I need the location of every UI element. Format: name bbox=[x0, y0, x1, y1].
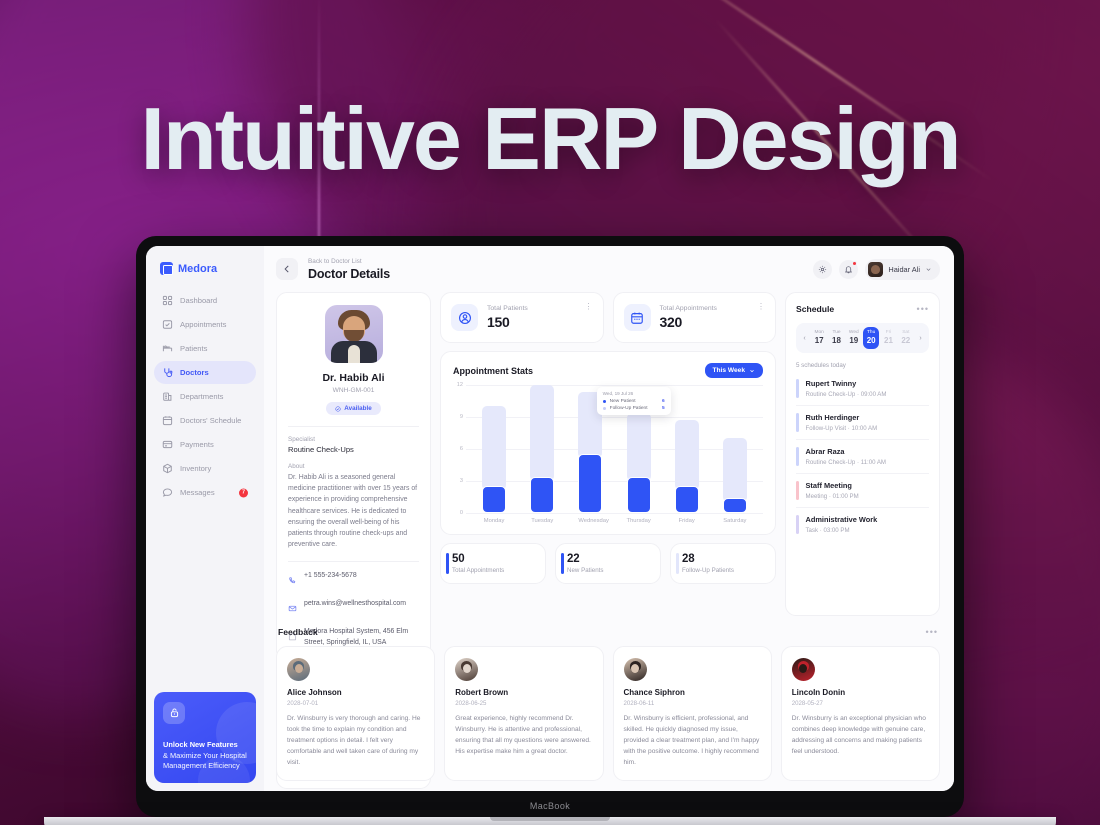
feedback-name: Alice Johnson bbox=[287, 688, 424, 697]
sidebar-item-dashboard[interactable]: Dashboard bbox=[154, 289, 256, 312]
bar-new-patient bbox=[627, 477, 651, 513]
main-area: Back to Doctor List Doctor Details bbox=[264, 246, 954, 791]
sidebar-item-label: Messages bbox=[180, 488, 215, 497]
chart-x-tick: Saturday bbox=[723, 518, 747, 524]
stat-card-total-patients: Total Patients 150 ⋮ bbox=[440, 292, 604, 343]
about-text: Dr. Habib Ali is a seasoned general medi… bbox=[288, 472, 419, 550]
feedback-text: Dr. Winsburry is very thorough and carin… bbox=[287, 713, 424, 768]
stat-value: 320 bbox=[660, 314, 717, 330]
event-meta: Routine Check-Up · 09:00 AM bbox=[806, 391, 887, 398]
event-color-bar bbox=[796, 413, 799, 432]
sidebar-item-payments[interactable]: Payments bbox=[154, 433, 256, 456]
tooltip-label: Follow-Up Patient bbox=[610, 406, 648, 411]
feedback-text: Great experience, highly recommend Dr. W… bbox=[455, 713, 592, 757]
bar-followup bbox=[530, 385, 554, 481]
chart-y-tick: 3 bbox=[460, 478, 463, 484]
chart-y-tick: 9 bbox=[460, 414, 463, 420]
chevron-left-icon[interactable]: ‹ bbox=[799, 335, 810, 342]
sidebar-item-patients[interactable]: Patients bbox=[154, 337, 256, 360]
back-button[interactable] bbox=[276, 258, 298, 280]
chart-x-tick: Friday bbox=[675, 518, 699, 524]
day-number: 21 bbox=[880, 336, 896, 345]
feedback-cards: Alice Johnson2028-07-01Dr. Winsburry is … bbox=[276, 646, 940, 781]
day-name: Tue bbox=[828, 330, 844, 335]
grid-icon bbox=[162, 295, 173, 306]
stat-card-total-appointments: Total Appointments 320 ⋮ bbox=[613, 292, 777, 343]
event-color-bar bbox=[796, 515, 799, 534]
schedule-day-cell[interactable]: Fri21 bbox=[880, 327, 896, 349]
sidebar-item-departments[interactable]: Departments bbox=[154, 385, 256, 408]
app-screen: Medora Dashboard Appointments Patients bbox=[146, 246, 954, 791]
chart-y-tick: 0 bbox=[460, 510, 463, 516]
hero-headline: Intuitive ERP Design bbox=[0, 95, 1100, 183]
chart-bar-group[interactable] bbox=[723, 385, 747, 513]
event-meta: Follow-Up Visit · 10:00 AM bbox=[806, 425, 878, 432]
sidebar-item-inventory[interactable]: Inventory bbox=[154, 457, 256, 480]
day-number: 17 bbox=[811, 336, 827, 345]
chart-header: Appointment Stats This Week bbox=[453, 363, 763, 378]
chart-plot: 036912 Wed, 19 Jul 26 New Patient 6 bbox=[453, 385, 763, 513]
doctor-profile-card: Dr. Habib Ali WNH-GM-001 Available Speci… bbox=[276, 292, 431, 661]
sidebar-item-doctors-schedule[interactable]: Doctors' Schedule bbox=[154, 409, 256, 432]
feedback-card: Chance Siphron2028-06-11Dr. Winsburry is… bbox=[613, 646, 772, 781]
user-circle-icon bbox=[451, 304, 478, 331]
laptop-mockup: MacBook Medora Dashboard Appointments bbox=[136, 236, 964, 825]
schedule-event[interactable]: Administrative WorkTask · 03:00 PM bbox=[796, 508, 929, 541]
schedule-event[interactable]: Rupert TwinnyRoutine Check-Up · 09:00 AM bbox=[796, 372, 929, 406]
stat-label: Total Appointments bbox=[660, 305, 717, 312]
chart-bar-group[interactable] bbox=[675, 385, 699, 513]
tooltip-value: 6 bbox=[662, 399, 665, 404]
notifications-button[interactable] bbox=[839, 260, 858, 279]
building-icon bbox=[162, 391, 173, 402]
mini-stat-new-patients: 22 New Patients bbox=[555, 543, 661, 584]
promo-line-3: Management Efficiency bbox=[163, 761, 247, 772]
sidebar-item-label: Doctors bbox=[180, 368, 209, 377]
avatar bbox=[792, 658, 815, 681]
chart-x-axis: MondayTuesdayWednesdayThursdayFridaySatu… bbox=[453, 513, 763, 524]
doctor-id: WNH-GM-001 bbox=[288, 387, 419, 394]
legend-swatch-new bbox=[603, 400, 606, 403]
tooltip-value: 5 bbox=[662, 406, 665, 411]
ellipsis-icon[interactable]: ••• bbox=[926, 627, 938, 637]
schedule-event[interactable]: Staff MeetingMeeting · 01:00 PM bbox=[796, 474, 929, 508]
day-name: Sat bbox=[898, 330, 914, 335]
avatar bbox=[624, 658, 647, 681]
event-title: Abrar Raza bbox=[806, 447, 887, 456]
promo-line-1: Unlock New Features bbox=[163, 740, 247, 751]
schedule-day-cell[interactable]: Tue18 bbox=[828, 327, 844, 349]
day-number: 20 bbox=[863, 336, 879, 345]
chevron-down-icon bbox=[749, 368, 755, 374]
schedule-event[interactable]: Ruth HerdingerFollow-Up Visit · 10:00 AM bbox=[796, 406, 929, 440]
schedule-day-cell[interactable]: Sat22 bbox=[898, 327, 914, 349]
bar-new-patient bbox=[530, 477, 554, 513]
feedback-card: Lincoln Donin2028-05-27Dr. Winsburry is … bbox=[781, 646, 940, 781]
week-selector: ‹ Mon17Tue18Wed19Thu20Fri21Sat22 › bbox=[796, 323, 929, 353]
mini-stat-total-appointments: 50 Total Appointments bbox=[440, 543, 546, 584]
tooltip-date: Wed, 19 Jul 26 bbox=[603, 391, 665, 396]
day-name: Fri bbox=[880, 330, 896, 335]
device-label: MacBook bbox=[136, 801, 964, 811]
chart-x-tick: Thursday bbox=[627, 518, 651, 524]
chart-grid: Wed, 19 Jul 26 New Patient 6 bbox=[466, 385, 763, 513]
user-name: Haidar Ali bbox=[888, 265, 920, 274]
medora-logo-icon bbox=[160, 262, 173, 275]
avatar bbox=[868, 262, 883, 277]
mini-label: Follow-Up Patients bbox=[682, 567, 765, 574]
event-color-bar bbox=[796, 481, 799, 500]
feedback-date: 2028-07-01 bbox=[287, 700, 424, 707]
schedule-day-cell[interactable]: Wed19 bbox=[846, 327, 862, 349]
sidebar-item-label: Inventory bbox=[180, 464, 211, 473]
event-meta: Meeting · 01:00 PM bbox=[806, 493, 859, 500]
feedback-text: Dr. Winsburry is efficient, professional… bbox=[624, 713, 761, 768]
bell-icon bbox=[844, 265, 853, 274]
feedback-date: 2028-06-11 bbox=[624, 700, 761, 707]
sidebar-item-label: Doctors' Schedule bbox=[180, 416, 241, 425]
gear-icon bbox=[818, 265, 827, 274]
box-icon bbox=[162, 463, 173, 474]
day-number: 19 bbox=[846, 336, 862, 345]
feedback-name: Lincoln Donin bbox=[792, 688, 929, 697]
chevron-right-icon[interactable]: › bbox=[915, 335, 926, 342]
breadcrumb[interactable]: Back to Doctor List bbox=[308, 257, 390, 267]
schedule-event[interactable]: Abrar RazaRoutine Check-Up · 11:00 AM bbox=[796, 440, 929, 474]
day-number: 22 bbox=[898, 336, 914, 345]
dashboard-column: Total Patients 150 ⋮ Total Appo bbox=[440, 292, 776, 616]
event-title: Administrative Work bbox=[806, 515, 878, 524]
divider bbox=[288, 561, 419, 562]
bar-followup bbox=[482, 406, 506, 490]
lock-icon bbox=[163, 702, 185, 724]
mini-label: New Patients bbox=[567, 567, 650, 574]
sidebar-item-label: Appointments bbox=[180, 320, 226, 329]
stat-label: Total Patients bbox=[487, 305, 528, 312]
about-label: About bbox=[288, 463, 419, 470]
feedback-header: Feedback ••• bbox=[276, 616, 940, 646]
feedback-card: Alice Johnson2028-07-01Dr. Winsburry is … bbox=[276, 646, 435, 781]
mini-value: 50 bbox=[452, 553, 535, 565]
event-title: Rupert Twinny bbox=[806, 379, 887, 388]
schedule-column: Schedule ••• ‹ Mon17Tue18Wed19Thu20Fri21… bbox=[785, 292, 940, 616]
legend-swatch-followup bbox=[603, 407, 606, 410]
brand-name: Medora bbox=[178, 263, 217, 275]
mini-label: Total Appointments bbox=[452, 567, 535, 574]
stethoscope-icon bbox=[162, 367, 173, 378]
stat-menu-icon[interactable]: ⋮ bbox=[585, 304, 593, 310]
bar-new-patient bbox=[578, 454, 602, 513]
promo-card[interactable]: Unlock New Features & Maximize Your Hosp… bbox=[154, 692, 256, 783]
chart-y-axis: 036912 bbox=[453, 385, 466, 513]
chart-y-tick: 12 bbox=[457, 382, 463, 388]
chart-range-label: This Week bbox=[713, 367, 746, 374]
status-badge: Available bbox=[326, 402, 380, 415]
schedule-title: Schedule bbox=[796, 304, 834, 314]
stat-menu-icon[interactable]: ⋮ bbox=[757, 304, 765, 310]
sidebar-item-label: Payments bbox=[180, 440, 214, 449]
page-title: Doctor Details bbox=[308, 267, 390, 281]
doctor-name: Dr. Habib Ali bbox=[288, 372, 419, 384]
schedule-events: Rupert TwinnyRoutine Check-Up · 09:00 AM… bbox=[796, 372, 929, 541]
day-number: 18 bbox=[828, 336, 844, 345]
promo-line-2: & Maximize Your Hospital bbox=[163, 751, 247, 762]
laptop-lid: MacBook Medora Dashboard Appointments bbox=[136, 236, 964, 817]
email-text: petra.wins@wellnesthospital.com bbox=[304, 599, 406, 610]
phone-icon bbox=[288, 572, 298, 590]
avatar bbox=[287, 658, 310, 681]
chart-x-tick: Monday bbox=[482, 518, 506, 524]
doctor-photo bbox=[325, 305, 383, 363]
bar-followup bbox=[675, 420, 699, 490]
schedule-day-cell[interactable]: Thu20 bbox=[863, 327, 879, 349]
profile-column: Dr. Habib Ali WNH-GM-001 Available Speci… bbox=[276, 292, 431, 616]
bed-icon bbox=[162, 343, 173, 354]
message-icon bbox=[162, 487, 173, 498]
status-text: Available bbox=[344, 405, 371, 412]
chevron-down-icon bbox=[925, 266, 932, 273]
mini-value: 28 bbox=[682, 553, 765, 565]
stat-cards: Total Patients 150 ⋮ Total Appo bbox=[440, 292, 776, 343]
chart-bar-group[interactable] bbox=[482, 385, 506, 513]
event-meta: Routine Check-Up · 11:00 AM bbox=[806, 459, 887, 466]
chart-gridline bbox=[466, 513, 763, 514]
chart-y-tick: 6 bbox=[460, 446, 463, 452]
sidebar-item-label: Dashboard bbox=[180, 296, 217, 305]
card-icon bbox=[162, 439, 173, 450]
event-title: Staff Meeting bbox=[806, 481, 859, 490]
schedule-header: Schedule ••• bbox=[796, 304, 929, 314]
sidebar-item-appointments[interactable]: Appointments bbox=[154, 313, 256, 336]
specialist-value: Routine Check-Ups bbox=[288, 445, 419, 454]
sidebar-item-label: Patients bbox=[180, 344, 207, 353]
bar-new-patient bbox=[675, 486, 699, 513]
sidebar-item-label: Departments bbox=[180, 392, 223, 401]
day-name: Thu bbox=[863, 330, 879, 335]
messages-badge: 7 bbox=[239, 488, 248, 497]
day-name: Mon bbox=[811, 330, 827, 335]
chart-tooltip: Wed, 19 Jul 26 New Patient 6 bbox=[597, 387, 671, 415]
contact-phone[interactable]: +1 555-234-5678 bbox=[288, 571, 419, 590]
mini-value: 22 bbox=[567, 553, 650, 565]
ellipsis-icon[interactable]: ••• bbox=[917, 304, 929, 314]
specialist-label: Specialist bbox=[288, 436, 419, 443]
chart-x-tick: Wednesday bbox=[578, 518, 602, 524]
brand-logo[interactable]: Medora bbox=[154, 260, 256, 289]
feedback-date: 2028-06-25 bbox=[455, 700, 592, 707]
sidebar: Medora Dashboard Appointments Patients bbox=[146, 246, 264, 791]
sidebar-nav: Dashboard Appointments Patients Doctors bbox=[154, 289, 256, 504]
laptop-base bbox=[44, 817, 1056, 825]
check-circle-icon bbox=[335, 406, 341, 412]
chart-range-selector[interactable]: This Week bbox=[705, 363, 764, 378]
calendar-icon bbox=[624, 304, 651, 331]
event-title: Ruth Herdinger bbox=[806, 413, 878, 422]
day-name: Wed bbox=[846, 330, 862, 335]
bar-followup bbox=[723, 438, 747, 502]
topbar-actions: Haidar Ali bbox=[813, 259, 940, 280]
chart-x-tick: Tuesday bbox=[530, 518, 554, 524]
tooltip-label: New Patient bbox=[610, 399, 636, 404]
sidebar-item-doctors[interactable]: Doctors bbox=[154, 361, 256, 384]
content-area: Dr. Habib Ali WNH-GM-001 Available Speci… bbox=[264, 292, 954, 616]
arrow-left-icon bbox=[282, 264, 292, 274]
mini-stat-followup-patients: 28 Follow-Up Patients bbox=[670, 543, 776, 584]
notification-dot bbox=[852, 261, 857, 266]
chart-bar-group[interactable] bbox=[530, 385, 554, 513]
feedback-card: Robert Brown2028-06-25Great experience, … bbox=[444, 646, 603, 781]
bar-new-patient bbox=[482, 486, 506, 513]
phone-text: +1 555-234-5678 bbox=[304, 571, 357, 582]
feedback-name: Chance Siphron bbox=[624, 688, 761, 697]
event-meta: Task · 03:00 PM bbox=[806, 527, 878, 534]
bar-new-patient bbox=[723, 498, 747, 513]
feedback-section: Feedback ••• Alice Johnson2028-07-01Dr. … bbox=[264, 616, 954, 791]
divider bbox=[288, 426, 419, 427]
settings-button[interactable] bbox=[813, 260, 832, 279]
event-color-bar bbox=[796, 379, 799, 398]
schedule-day-cell[interactable]: Mon17 bbox=[811, 327, 827, 349]
avatar bbox=[455, 658, 478, 681]
event-color-bar bbox=[796, 447, 799, 466]
user-menu[interactable]: Haidar Ali bbox=[865, 259, 940, 280]
appointment-stats-chart: Appointment Stats This Week 036912 bbox=[440, 351, 776, 535]
schedule-card: Schedule ••• ‹ Mon17Tue18Wed19Thu20Fri21… bbox=[785, 292, 940, 616]
stat-value: 150 bbox=[487, 314, 528, 330]
topbar: Back to Doctor List Doctor Details bbox=[264, 246, 954, 292]
calendar-icon bbox=[162, 415, 173, 426]
feedback-text: Dr. Winsburry is an exceptional physicia… bbox=[792, 713, 929, 757]
chart-title: Appointment Stats bbox=[453, 366, 533, 376]
feedback-title: Feedback bbox=[278, 627, 318, 637]
bar-followup bbox=[627, 413, 651, 481]
mini-stat-cards: 50 Total Appointments 22 New Patients 28… bbox=[440, 543, 776, 584]
schedule-count: 5 schedules today bbox=[796, 362, 929, 369]
sidebar-item-messages[interactable]: Messages 7 bbox=[154, 481, 256, 504]
feedback-date: 2028-05-27 bbox=[792, 700, 929, 707]
feedback-name: Robert Brown bbox=[455, 688, 592, 697]
calendar-check-icon bbox=[162, 319, 173, 330]
